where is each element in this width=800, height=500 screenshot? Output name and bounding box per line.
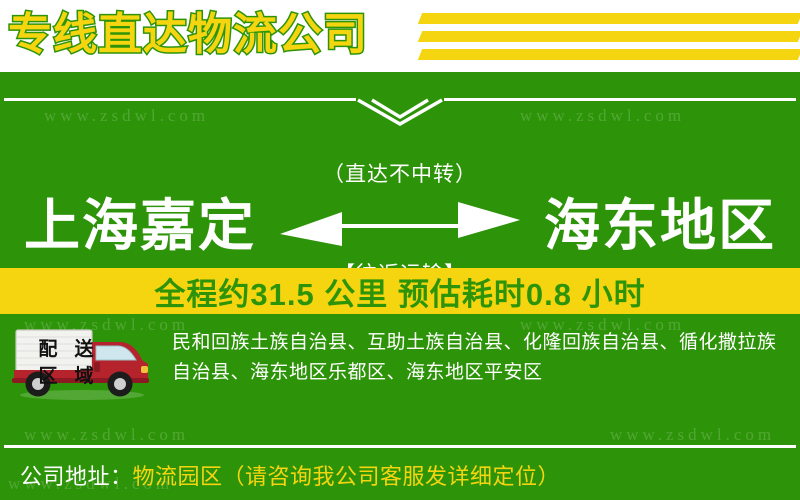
bidirectional-arrow-icon [278,198,522,258]
divider-left [4,98,356,101]
distance-duration-text: 全程约31.5 公里 预估耗时0.8 小时 [154,269,645,314]
stripe-3 [418,49,800,60]
header-stripes-decoration [420,12,800,64]
delivery-truck-icon: 配 送 区 域 [8,326,156,400]
address-label: 公司地址： [20,459,133,491]
stripe-1 [418,13,800,24]
stripe-2 [418,31,800,42]
banner-header: 专线直达物流公司 [0,0,800,72]
coverage-areas-text: 民和回族土族自治县、互助土族自治县、化隆回族自治县、循化撒拉族自治县、海东地区乐… [172,328,786,388]
address-value: 物流园区（请咨询我公司客服发详细定位） [133,459,561,491]
banner-body: www.zsdwl.com www.zsdwl.com www.zsdwl.co… [0,72,800,500]
logistics-banner: 专线直达物流公司 www.zsdwl.com www.zsdwl.com www… [0,0,800,500]
footer-address-bar: 公司地址： 物流园区（请咨询我公司客服发详细定位） [0,450,800,500]
origin-city: 上海嘉定 [24,190,256,262]
watermark: www.zsdwl.com [24,425,189,445]
divider-with-chevron [0,98,800,132]
footer-divider [4,445,796,448]
destination-city: 海东地区 [544,190,776,262]
company-title: 专线直达物流公司 [8,8,368,62]
watermark: www.zsdwl.com [610,425,775,445]
double-chevron-down-icon [356,91,444,131]
metrics-band: 全程约31.5 公里 预估耗时0.8 小时 [0,268,800,314]
coverage-row: 配 送 区 域 民和回族土族自治县、互助土族自治县、化隆回族自治县、循化撒拉族自… [0,324,800,424]
direct-label: （直达不中转） [278,158,522,188]
divider-right [444,98,796,101]
